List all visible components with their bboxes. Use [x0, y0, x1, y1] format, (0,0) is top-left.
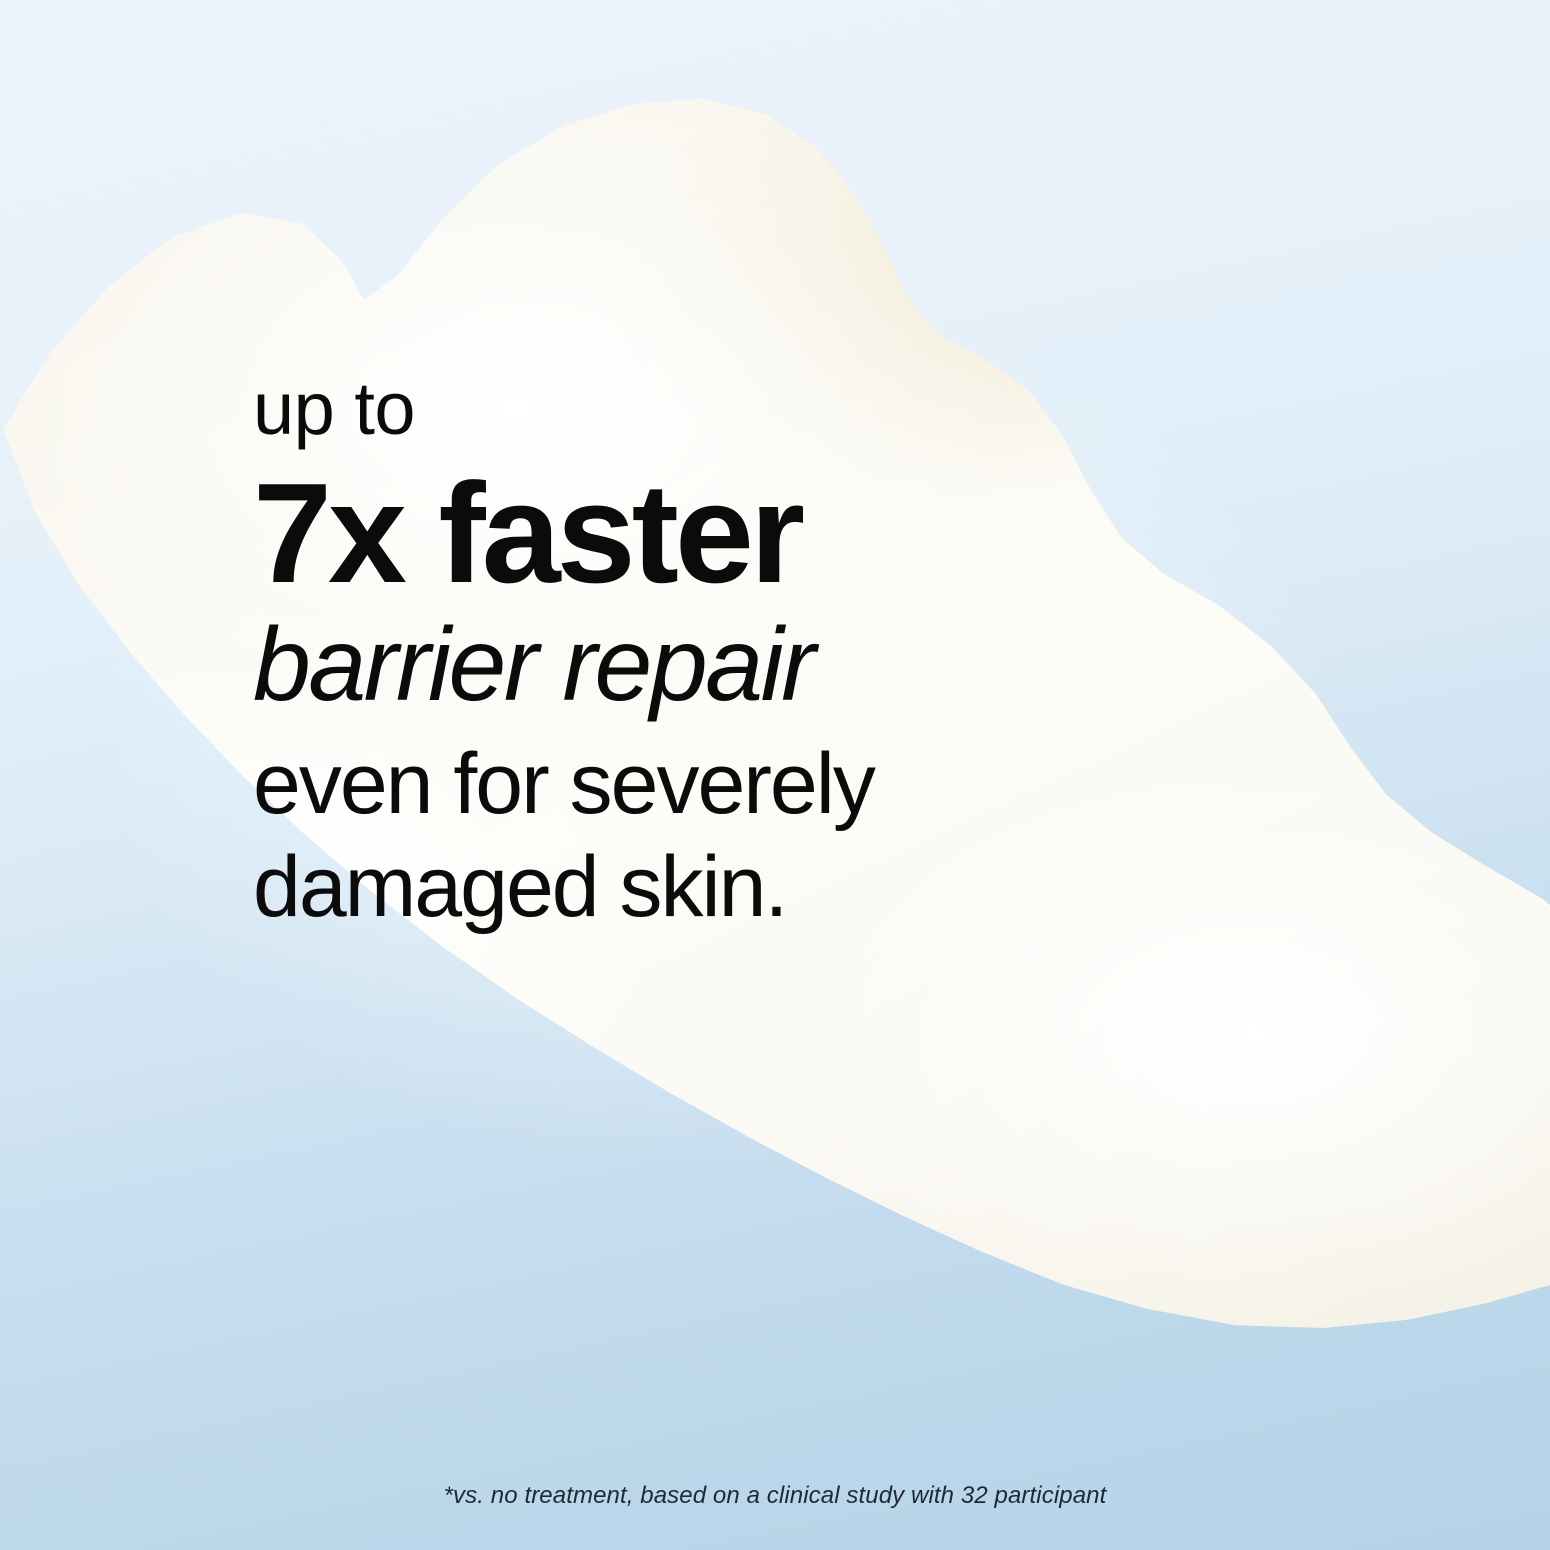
claim-body-line-1: even for severely [253, 733, 1153, 836]
claim-headline: 7x faster [253, 464, 1153, 603]
claim-emphasis: barrier repair [253, 613, 1153, 717]
claim-body-line-2: damaged skin. [253, 836, 1153, 939]
product-claim-image: up to 7x faster barrier repair even for … [0, 0, 1550, 1550]
claim-footnote: *vs. no treatment, based on a clinical s… [0, 1482, 1550, 1510]
claim-copy-block: up to 7x faster barrier repair even for … [253, 372, 1153, 940]
claim-eyebrow: up to [253, 372, 1153, 446]
